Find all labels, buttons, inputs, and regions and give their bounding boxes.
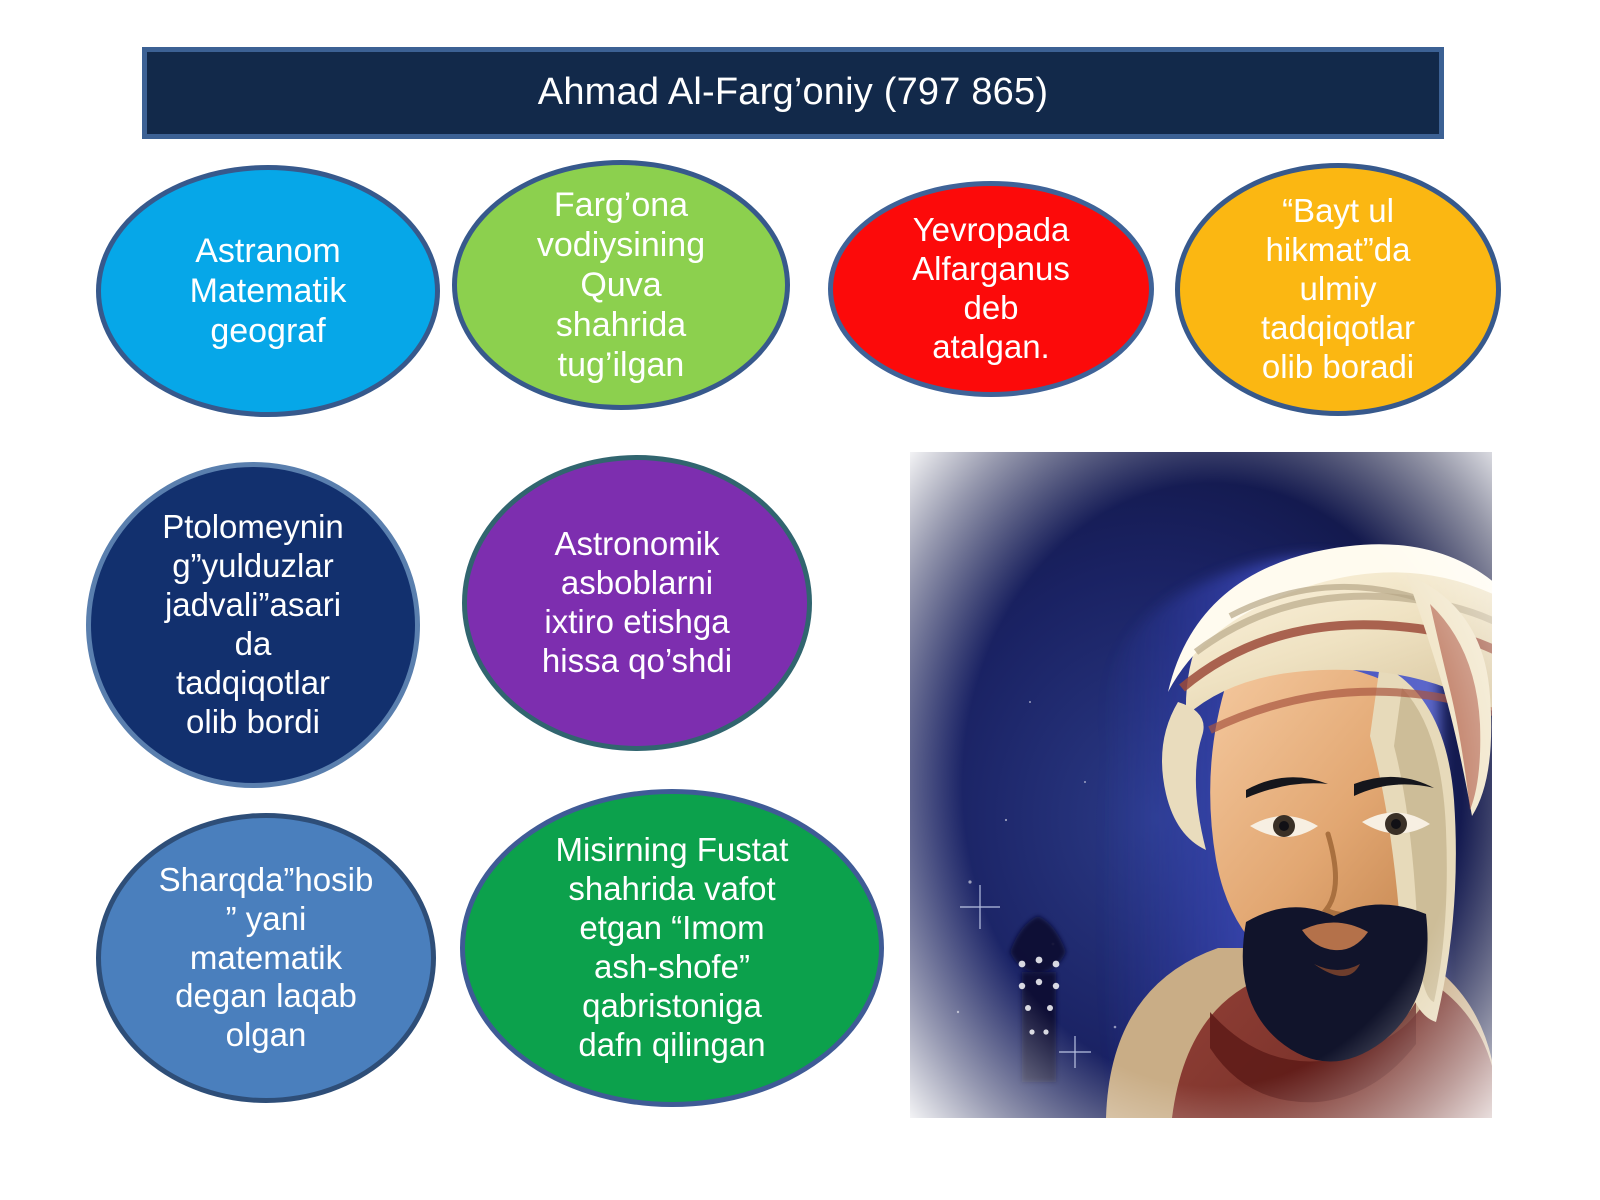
bubble-yevropada-label: Yevropada Alfarganus deb atalgan. — [833, 211, 1149, 367]
bubble-bayt-label: “Bayt ul hikmat”da ulmiy tadqiqotlar oli… — [1180, 192, 1496, 387]
bubble-fargona-birthplace[interactable]: Farg’ona vodiysining Quva shahrida tug’i… — [452, 160, 790, 410]
bubble-misirning-death[interactable]: Misirning Fustat shahrida vafot etgan “I… — [460, 789, 884, 1107]
portrait-image — [910, 452, 1492, 1118]
slide-title-banner: Ahmad Al-Farg’oniy (797 865) — [142, 47, 1444, 139]
bubble-astronomik-label: Astronomik asboblarni ixtiro etishga his… — [467, 525, 807, 681]
bubble-ptolomey-star-tables[interactable]: Ptolomeynin g”yulduzlar jadvali”asari da… — [86, 462, 420, 788]
bubble-astranom-label: Astranom Matematik geograf — [101, 231, 435, 351]
bubble-sharqda-hosib[interactable]: Sharqda”hosib ” yani matematik degan laq… — [96, 813, 436, 1103]
portrait-artwork — [910, 452, 1492, 1118]
bubble-fargona-label: Farg’ona vodiysining Quva shahrida tug’i… — [457, 185, 785, 386]
bubble-misirning-label: Misirning Fustat shahrida vafot etgan “I… — [465, 831, 879, 1065]
bubble-yevropada-alfarganus[interactable]: Yevropada Alfarganus deb atalgan. — [828, 181, 1154, 397]
page-title: Ahmad Al-Farg’oniy (797 865) — [538, 72, 1048, 114]
bubble-ptolomey-label: Ptolomeynin g”yulduzlar jadvali”asari da… — [91, 508, 415, 742]
bubble-bayt-ul-hikmat[interactable]: “Bayt ul hikmat”da ulmiy tadqiqotlar oli… — [1175, 163, 1501, 416]
bubble-sharqda-label: Sharqda”hosib ” yani matematik degan laq… — [101, 861, 431, 1056]
bubble-astronomik-instruments[interactable]: Astronomik asboblarni ixtiro etishga his… — [462, 455, 812, 751]
bubble-astranom[interactable]: Astranom Matematik geograf — [96, 165, 440, 417]
